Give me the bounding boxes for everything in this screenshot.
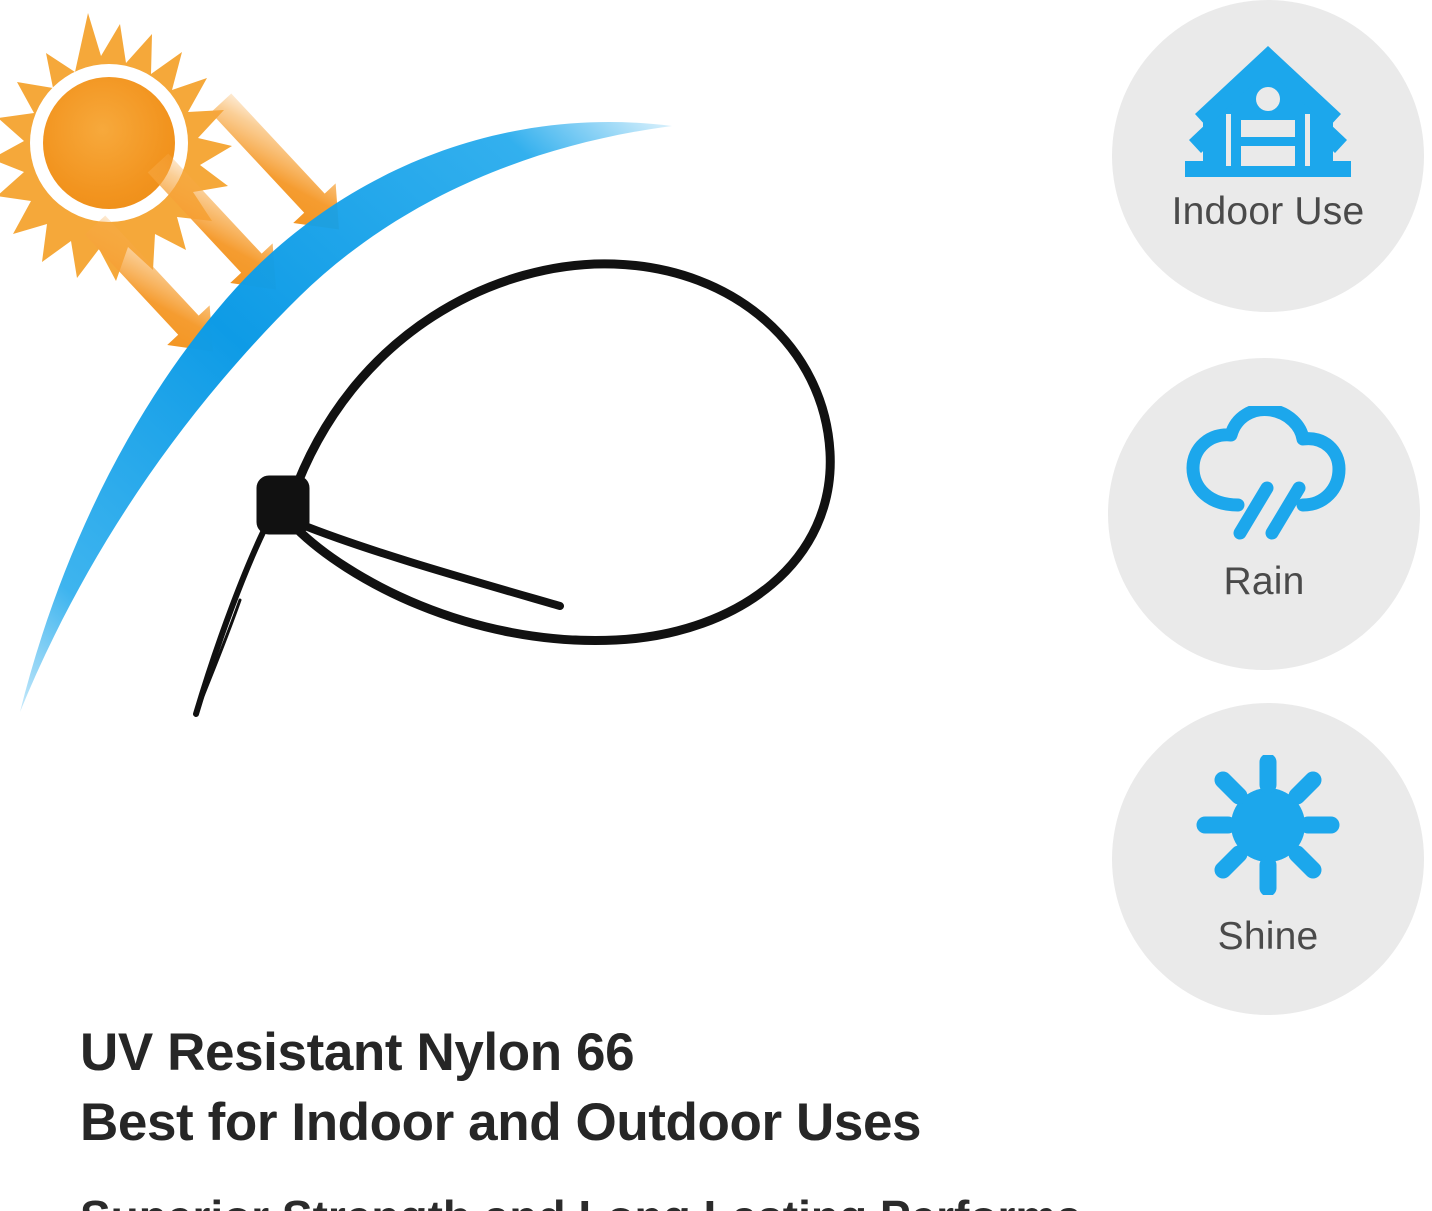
cable-tie-icon [196, 264, 830, 714]
uv-resistance-illustration [0, 0, 1080, 1000]
headline-line-1: UV Resistant Nylon 66 [80, 1018, 1080, 1088]
badge-label-indoor-use: Indoor Use [1172, 192, 1365, 231]
rain-cloud-icon [1181, 406, 1347, 542]
badge-label-shine: Shine [1218, 917, 1319, 956]
badge-indoor-use[interactable]: Indoor Use [1112, 0, 1424, 312]
bottom-caption-text: Superior Strength and Long Lasting Perfo… [80, 1194, 1080, 1211]
badge-shine[interactable]: Shine [1112, 703, 1424, 1015]
product-infographic: Indoor Use Rain [0, 0, 1432, 1211]
badge-label-rain: Rain [1223, 562, 1304, 601]
house-icon [1183, 42, 1353, 184]
feature-badge-column: Indoor Use Rain [1112, 0, 1432, 1020]
headline-block: UV Resistant Nylon 66 Best for Indoor an… [80, 1018, 1080, 1158]
sun-icon [1194, 755, 1342, 895]
badge-rain[interactable]: Rain [1108, 358, 1420, 670]
bottom-caption: Superior Strength and Long Lasting Perfo… [80, 1194, 1080, 1211]
headline-line-2: Best for Indoor and Outdoor Uses [80, 1088, 1080, 1158]
